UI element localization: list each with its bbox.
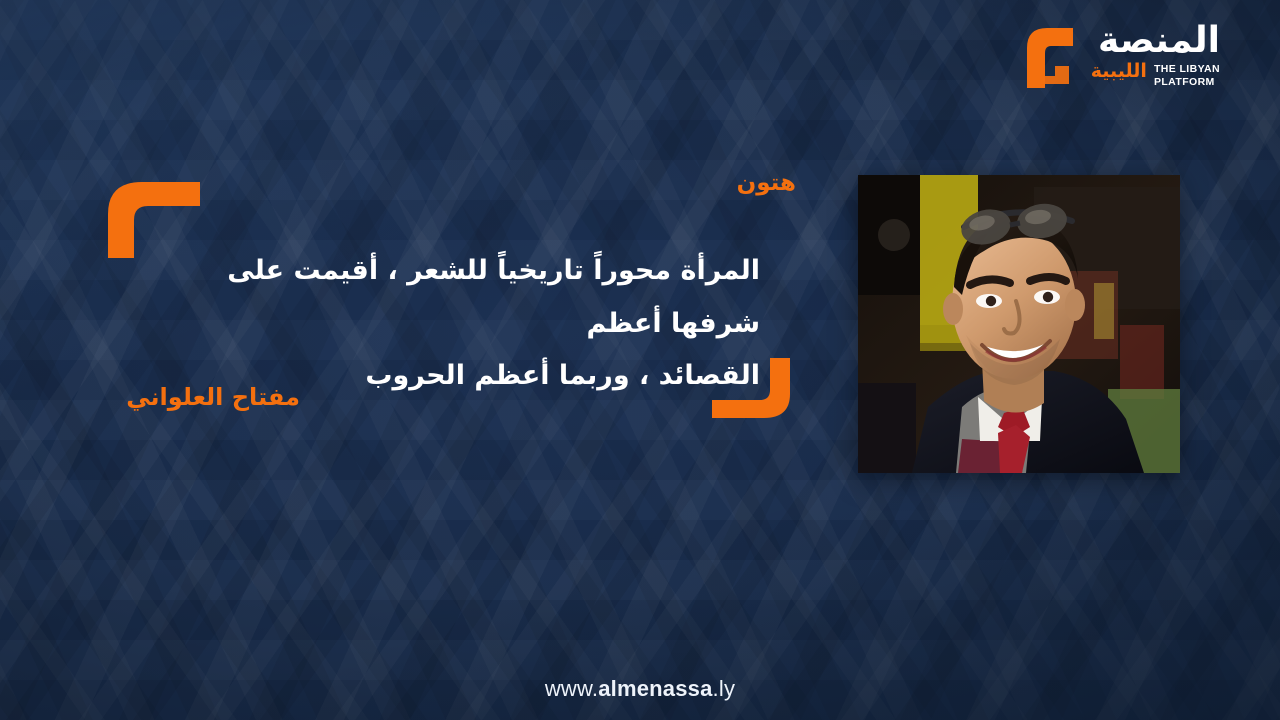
logo-english-line1: THE LIBYAN (1154, 63, 1220, 75)
logo-english-name: THE LIBYAN PLATFORM (1154, 62, 1220, 89)
logo-arabic-name: المنصة (1091, 23, 1220, 59)
logo-arabic-sub: الليبية (1091, 62, 1147, 81)
url-prefix: www. (545, 676, 598, 701)
url-domain: almenassa (598, 676, 712, 701)
url-tld: .ly (713, 676, 736, 701)
almenassa-bracket-mark-icon (1015, 22, 1081, 90)
author-name: مفتاح العلواني (126, 383, 300, 411)
logo-english-line2: PLATFORM (1154, 76, 1215, 88)
quote-text: المرأة محوراً تاريخياً للشعر ، أقيمت على… (160, 245, 760, 403)
kicker-label: هتون (737, 170, 796, 196)
logo-wordmark: المنصة THE LIBYAN PLATFORM الليبية (1091, 23, 1220, 89)
quote-line-1: المرأة محوراً تاريخياً للشعر ، أقيمت على… (160, 245, 760, 350)
brand-logo[interactable]: المنصة THE LIBYAN PLATFORM الليبية (1015, 22, 1220, 90)
logo-subline: THE LIBYAN PLATFORM الليبية (1091, 62, 1220, 89)
website-url[interactable]: www.almenassa.ly (0, 676, 1280, 702)
portrait-photo (858, 175, 1180, 473)
quote-card: المنصة THE LIBYAN PLATFORM الليبية (0, 0, 1280, 720)
